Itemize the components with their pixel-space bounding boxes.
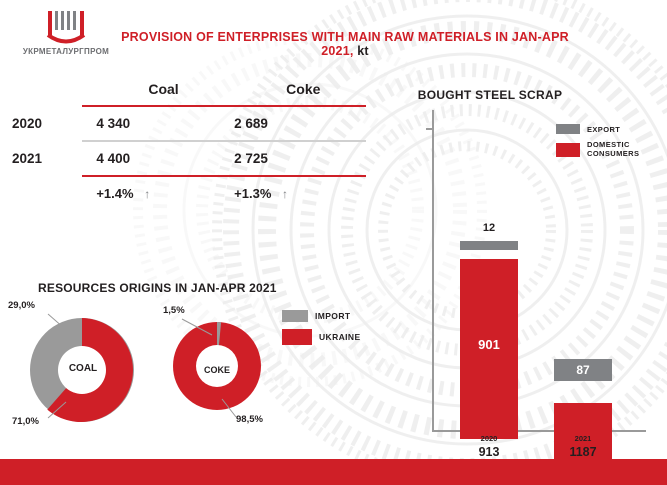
table-row: 2020 4 340 2 689 [12, 107, 372, 140]
delta-coal: +1.4% ↑ [96, 177, 234, 210]
page-title-text: PROVISION OF ENTERPRISES WITH MAIN RAW M… [121, 30, 569, 58]
bar-2021-total-label: 1187 [552, 445, 614, 459]
bar-2020-export-segment [460, 241, 518, 250]
scrap-chart-title: BOUGHT STEEL SCRAP [418, 88, 563, 102]
th-coke: Coke [234, 80, 372, 105]
delta-coal-value: +1.4% [96, 186, 133, 201]
legend-item-domestic: DOMESTIC CONSUMERS [556, 141, 647, 158]
legend-swatch-import [282, 310, 308, 322]
bottom-accent-bar [0, 459, 667, 485]
legend-label-ukraine: UKRAINE [319, 332, 361, 342]
arrow-up-icon: ↑ [282, 187, 288, 201]
legend-swatch-ukraine [282, 329, 312, 345]
axis-tick [426, 128, 434, 130]
table-delta-row: +1.4% ↑ +1.3% ↑ [12, 177, 372, 210]
resources-origins-title: RESOURCES ORIGINS IN JAN-APR 2021 [38, 281, 277, 295]
delta-blank [12, 177, 96, 210]
infographic-page: УКРМЕТАЛУРГПРОМ PROVISION OF ENTERPRISES… [0, 0, 667, 485]
bar-2020-year-label: 2020 [460, 434, 518, 443]
bar-2020-export-value: 12 [460, 222, 518, 234]
logo-text: УКРМЕТАЛУРГПРОМ [12, 47, 120, 56]
page-title-unit: kt [357, 44, 369, 58]
scrap-legend: EXPORT DOMESTIC CONSUMERS [556, 124, 647, 165]
coal-leader-lines [30, 310, 140, 426]
table-row: 2021 4 400 2 725 [12, 142, 372, 175]
delta-coke: +1.3% ↑ [234, 177, 372, 210]
arrow-up-icon: ↑ [144, 187, 150, 201]
coke-leader-lines [170, 313, 280, 425]
row-2021-coke: 2 725 [234, 142, 372, 175]
bar-2021-export-value: 87 [554, 363, 612, 377]
bar-2020-domestic-value: 901 [460, 337, 518, 352]
scrap-y-axis [432, 110, 434, 432]
legend-item-ukraine: UKRAINE [282, 329, 361, 345]
legend-item-export: EXPORT [556, 124, 647, 134]
row-2021-year: 2021 [12, 142, 96, 175]
row-2020-year: 2020 [12, 107, 96, 140]
row-2020-coke: 2 689 [234, 107, 372, 140]
bar-2021-export-segment: 87 [554, 359, 612, 381]
page-title: PROVISION OF ENTERPRISES WITH MAIN RAW M… [110, 30, 580, 58]
delta-coke-value: +1.3% [234, 186, 271, 201]
bar-2021-year-label: 2021 [554, 434, 612, 443]
legend-swatch-export [556, 124, 580, 134]
legend-label-domestic: DOMESTIC CONSUMERS [587, 141, 647, 158]
row-2020-coal: 4 340 [96, 107, 234, 140]
bar-2020-total-label: 913 [458, 445, 520, 459]
legend-swatch-domestic [556, 143, 580, 157]
row-2021-coal: 4 400 [96, 142, 234, 175]
logo: УКРМЕТАЛУРГПРОМ [12, 10, 120, 62]
table-header-row: Coal Coke [12, 80, 372, 105]
th-coal: Coal [96, 80, 234, 105]
bar-2020-domestic-segment: 901 [460, 259, 518, 439]
legend-label-export: EXPORT [587, 125, 620, 134]
logo-icon [45, 10, 87, 44]
raw-materials-table: Coal Coke 2020 4 340 2 689 2021 4 400 [12, 80, 372, 210]
resources-legend: IMPORT UKRAINE [282, 310, 361, 352]
th-blank [12, 80, 96, 105]
legend-item-import: IMPORT [282, 310, 361, 322]
legend-label-import: IMPORT [315, 311, 350, 321]
